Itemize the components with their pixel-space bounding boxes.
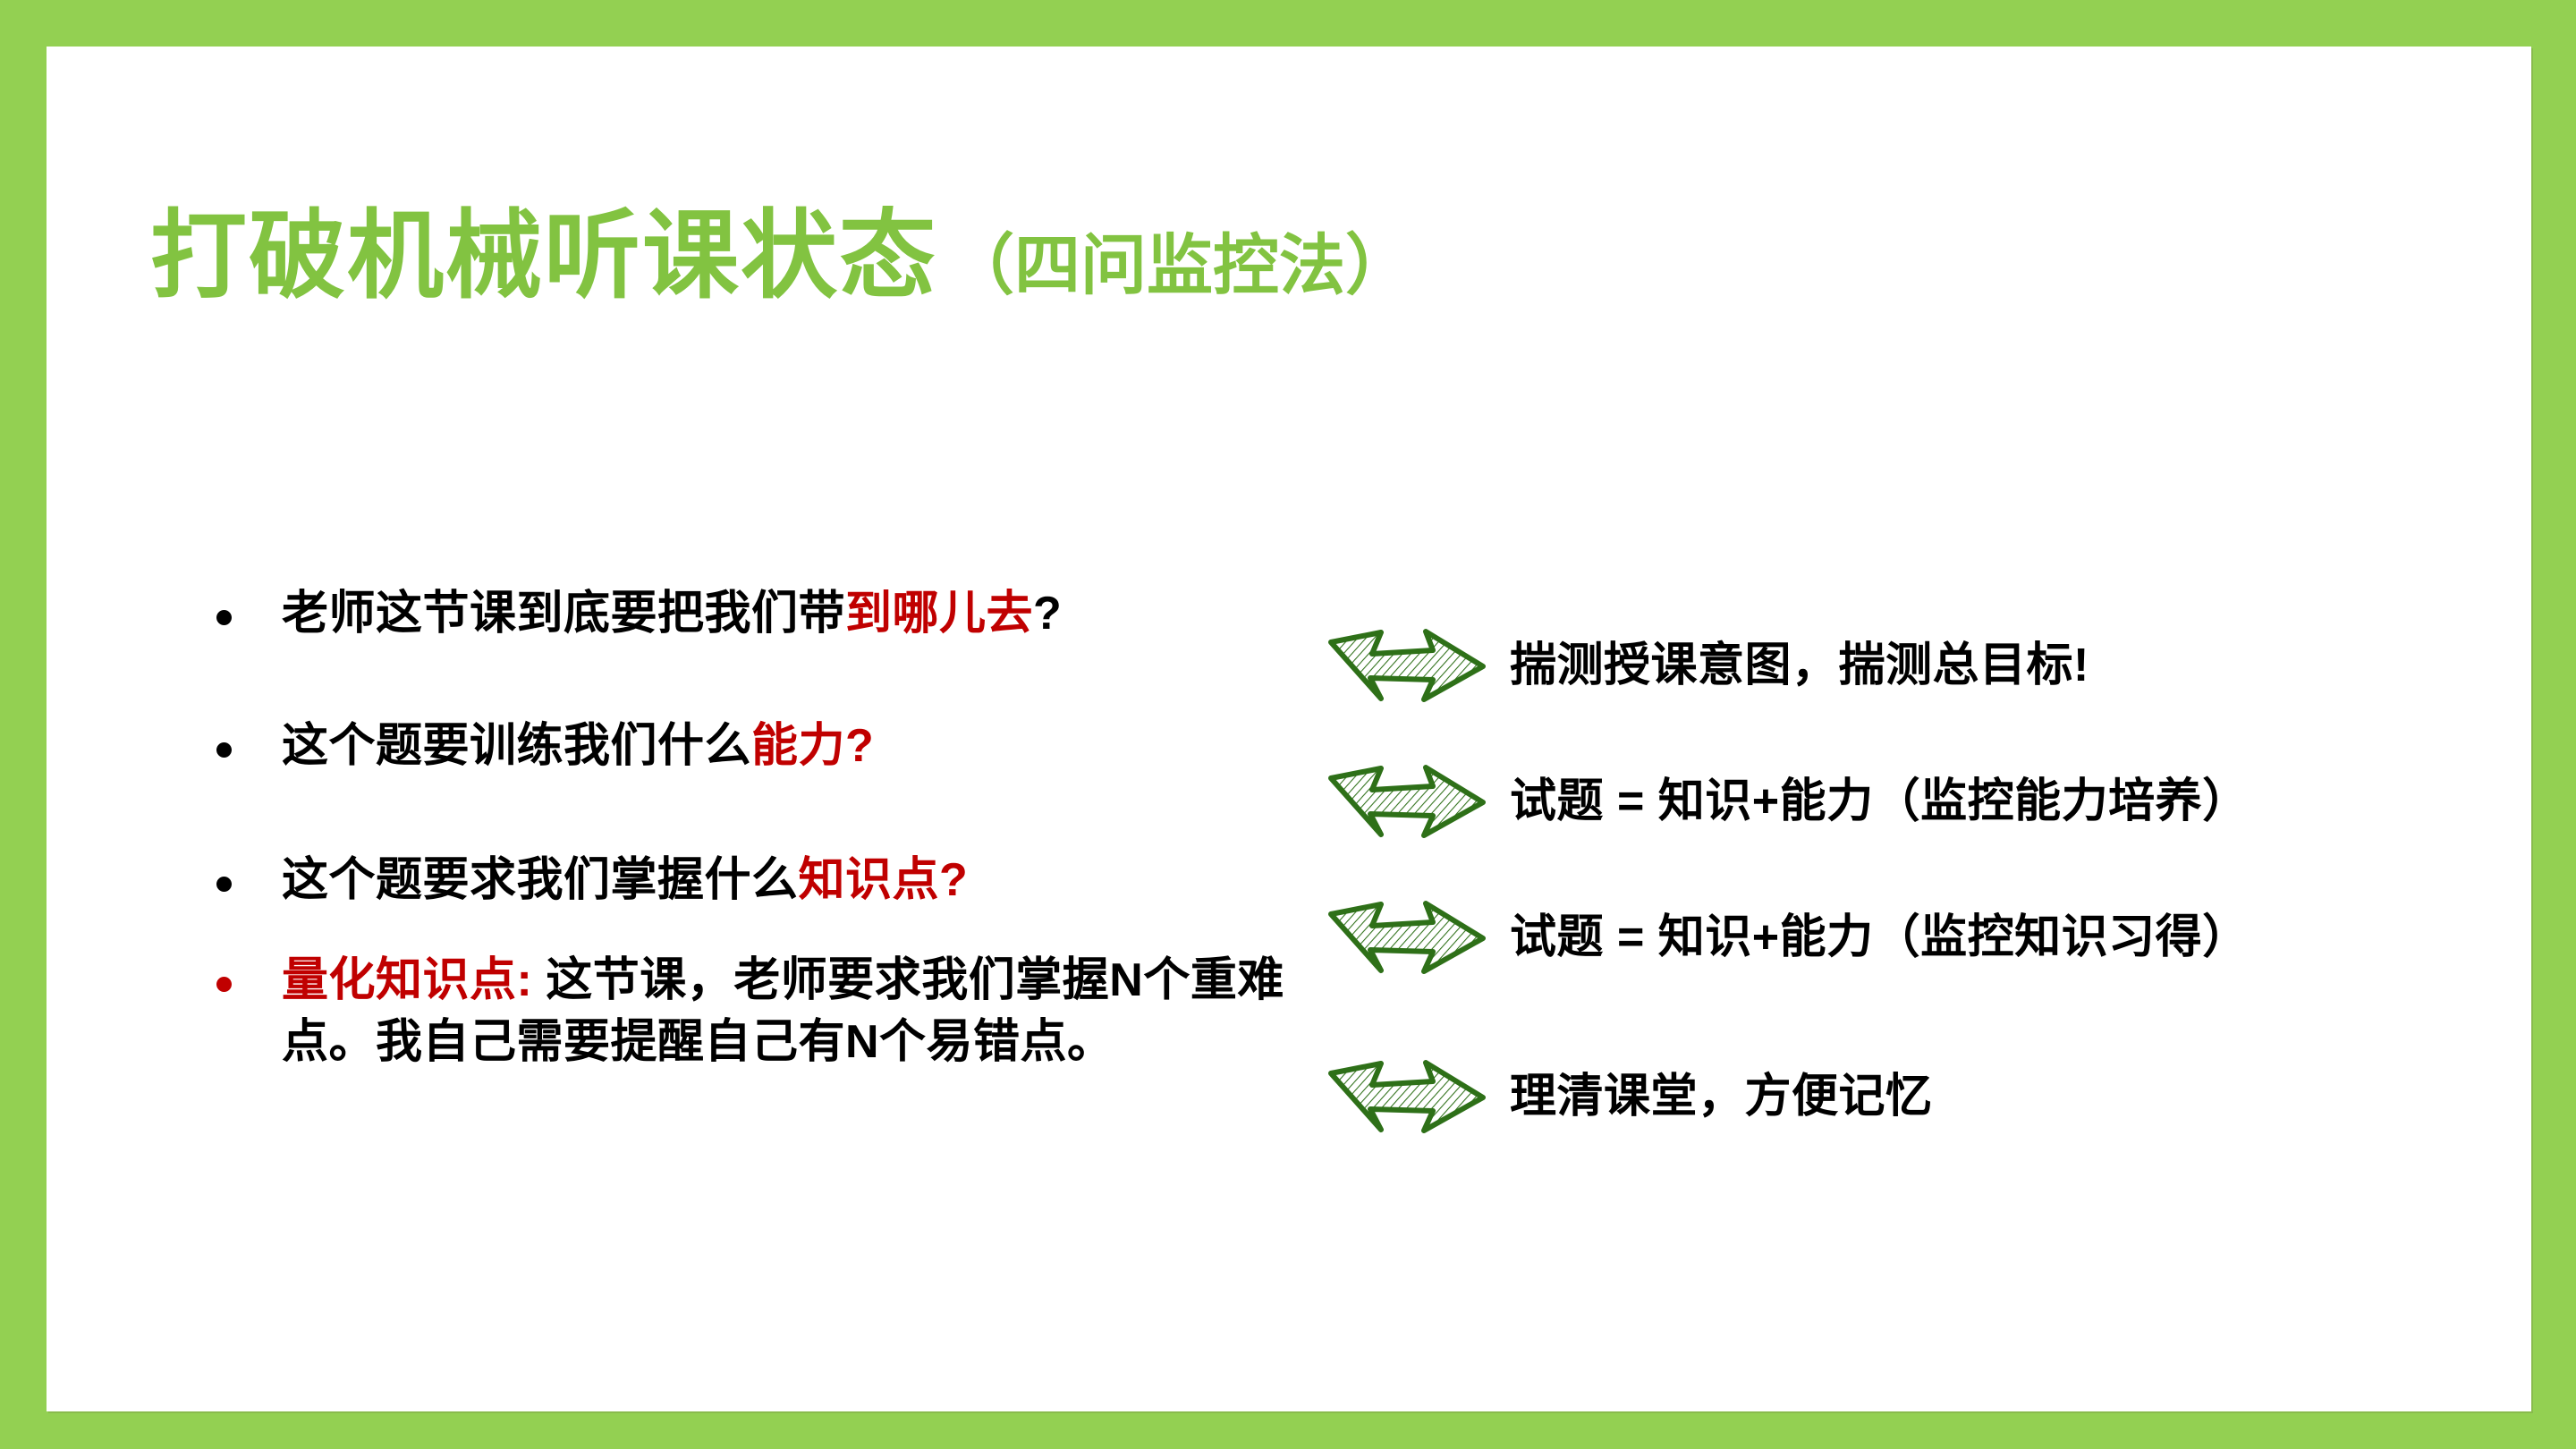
slide-body: 老师这节课到底要把我们带到哪儿去? 这个题要训练我们什么能力? 这个题要求我们掌… [47, 583, 2531, 1352]
question-lead-2: 这个题要训练我们什么 [282, 720, 751, 772]
outcome-text-2: 试题 = 知识+能力（监控能力培养） [1510, 774, 2250, 829]
page-title-subtitle: （四问监控法） [937, 233, 1411, 304]
question-text-2: 这个题要训练我们什么能力? [282, 716, 1306, 777]
questions-column: 老师这节课到底要把我们带到哪儿去? 这个题要训练我们什么能力? 这个题要求我们掌… [179, 583, 1306, 1182]
bullet-dot-icon [216, 610, 232, 625]
question-lead-1: 老师这节课到底要把我们带 [282, 588, 845, 640]
page-title: 打破机械听课状态 （四问监控法） [150, 208, 1411, 304]
question-tail-1: ? [1033, 588, 1062, 640]
page-title-main: 打破机械听课状态 [150, 208, 937, 304]
slide-root: 打破机械听课状态 （四问监控法） 老师这节课到底要把我们带到哪儿去? 这个题要训… [0, 0, 2576, 1449]
sketch-arrow-right-icon [1326, 626, 1487, 705]
question-text-4: 量化知识点: 这节课，老师要求我们掌握N个重难点。我自己需要提醒自己有N个易错点… [282, 950, 1306, 1072]
sketch-arrow-right-icon [1326, 1057, 1487, 1136]
outcome-text-3: 试题 = 知识+能力（监控知识习得） [1510, 910, 2250, 965]
list-item: 这个题要训练我们什么能力? [179, 716, 1306, 850]
question-highlight-4: 量化知识点: [282, 954, 532, 1006]
question-highlight-2: 能力? [751, 720, 874, 772]
question-highlight-3: 知识点? [799, 854, 969, 906]
question-highlight-1: 到哪儿去 [845, 588, 1033, 640]
outcome-row: 试题 = 知识+能力（监控知识习得） [1326, 898, 2250, 977]
outcome-row: 理清课堂，方便记忆 [1326, 1057, 1933, 1136]
bullet-dot-icon [216, 877, 232, 892]
slide-canvas: 打破机械听课状态 （四问监控法） 老师这节课到底要把我们带到哪儿去? 这个题要训… [47, 47, 2531, 1411]
sketch-arrow-right-icon [1326, 762, 1487, 841]
question-text-3: 这个题要求我们掌握什么知识点? [282, 850, 1306, 911]
outcome-text-1: 揣测授课意图，揣测总目标! [1510, 638, 2089, 693]
list-item: 量化知识点: 这节课，老师要求我们掌握N个重难点。我自己需要提醒自己有N个易错点… [179, 950, 1306, 1182]
bullet-dot-icon [216, 742, 232, 758]
question-text-1: 老师这节课到底要把我们带到哪儿去? [282, 583, 1306, 645]
sketch-arrow-right-icon [1326, 898, 1487, 977]
list-item: 老师这节课到底要把我们带到哪儿去? [179, 583, 1306, 716]
outcome-row: 试题 = 知识+能力（监控能力培养） [1326, 762, 2250, 841]
question-lead-3: 这个题要求我们掌握什么 [282, 854, 799, 906]
bullet-dot-icon [216, 977, 232, 992]
outcome-text-4: 理清课堂，方便记忆 [1510, 1069, 1933, 1124]
outcome-row: 揣测授课意图，揣测总目标! [1326, 626, 2089, 705]
list-item: 这个题要求我们掌握什么知识点? [179, 850, 1306, 950]
